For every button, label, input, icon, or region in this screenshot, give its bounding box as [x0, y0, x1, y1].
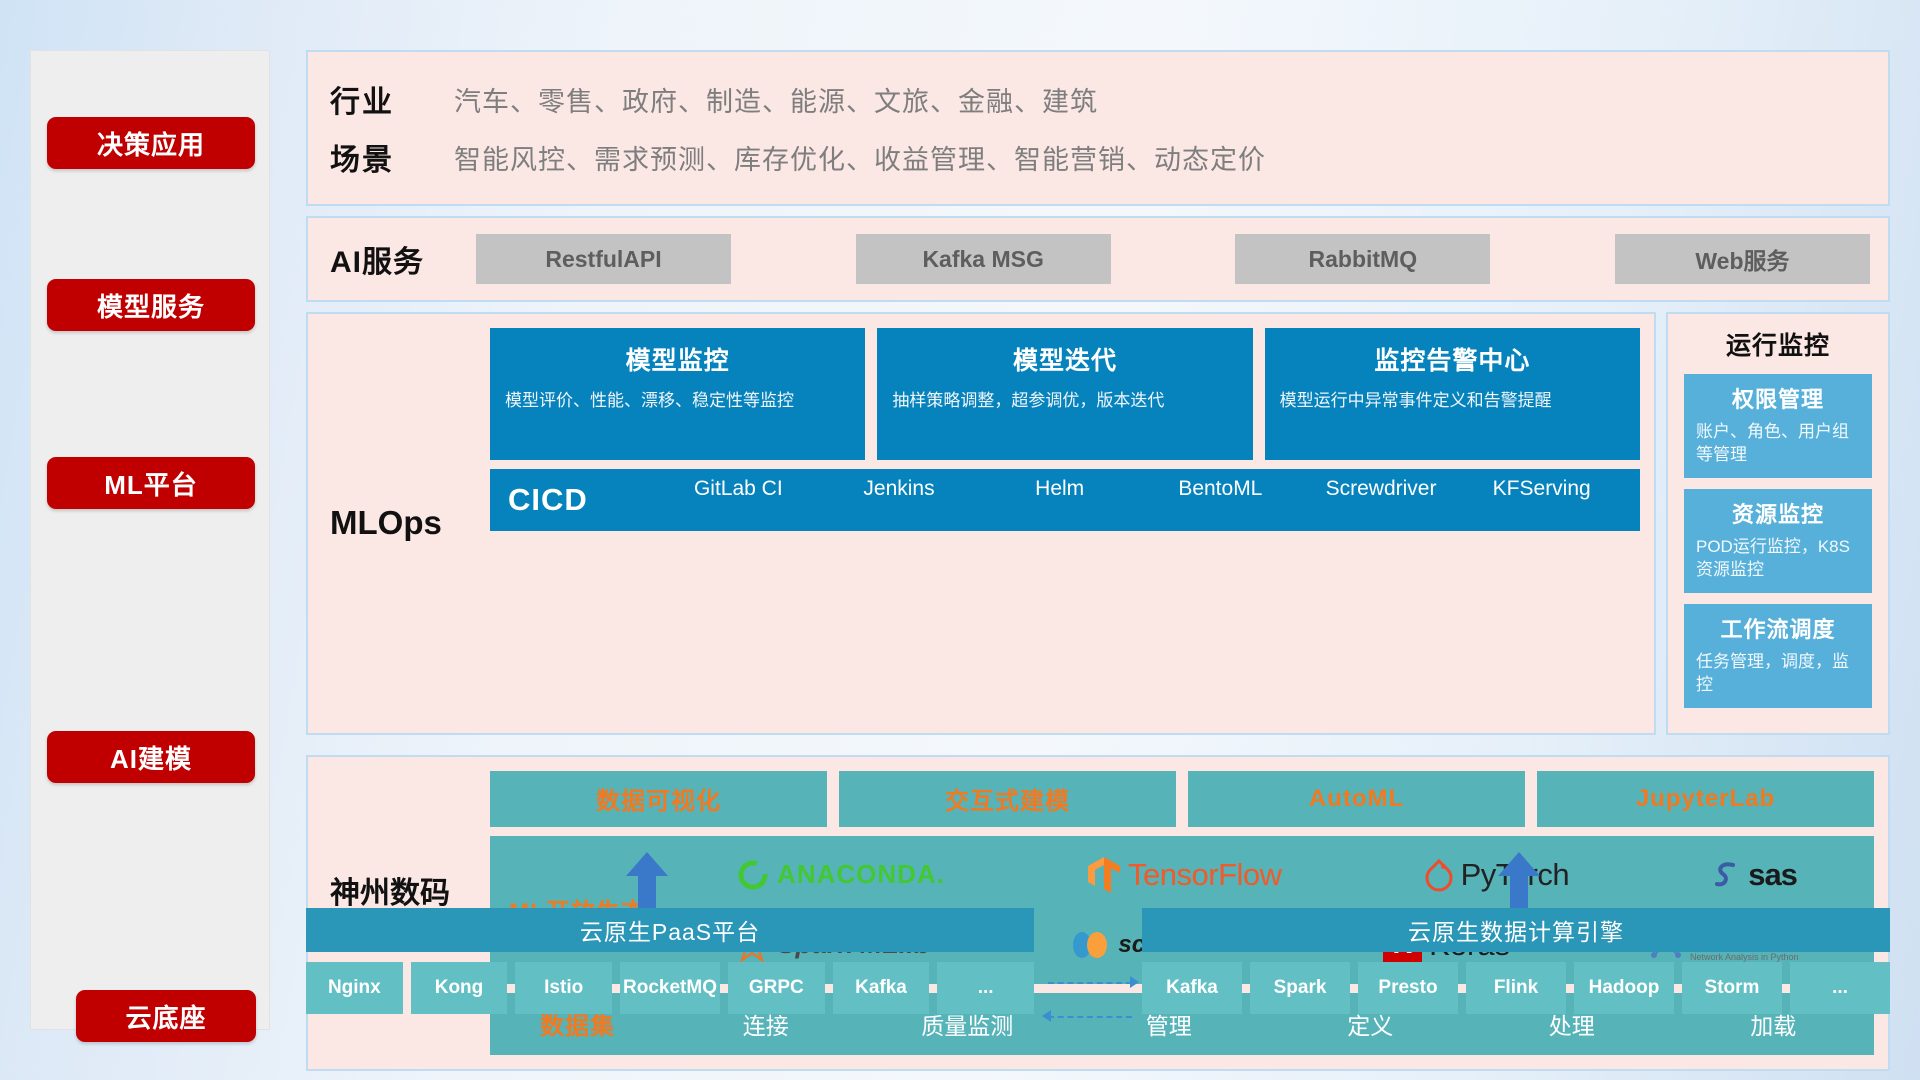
- paas-chip-rocketmq[interactable]: RocketMQ: [620, 962, 720, 1014]
- cicd-title: CICD: [508, 482, 658, 518]
- engine-chip-kafka[interactable]: Kafka: [1142, 962, 1242, 1014]
- paas-chip-kafka[interactable]: Kafka: [833, 962, 930, 1014]
- lab-tab-jupyterlab[interactable]: JupyterLab: [1537, 771, 1874, 827]
- card-title: 权限管理: [1696, 382, 1860, 414]
- sas-icon: [1711, 859, 1741, 891]
- lab-tab-interactive-modeling[interactable]: 交互式建模: [839, 771, 1176, 827]
- data-engine-group: 云原生数据计算引擎 Kafka Spark Presto Flink Hadoo…: [1142, 908, 1890, 1014]
- cicd-item-jenkins[interactable]: Jenkins: [819, 478, 980, 522]
- dashed-connector-right: [1048, 982, 1132, 984]
- ai-service-title: AI服务: [330, 237, 454, 281]
- monitor-card-resource[interactable]: 资源监控 POD运行监控，K8S资源监控: [1684, 489, 1872, 593]
- pytorch-icon: [1424, 858, 1454, 892]
- mlops-panel: MLOps 模型监控 模型评价、性能、漂移、稳定性等监控 模型迭代 抽样策略调整…: [306, 312, 1656, 735]
- cicd-bar: CICD GitLab CI Jenkins Helm BentoML Scre…: [490, 469, 1640, 531]
- card-desc: 模型运行中异常事件定义和告警提醒: [1280, 389, 1625, 414]
- rail-item-ml-platform[interactable]: ML平台: [47, 457, 255, 509]
- card-title: 监控告警中心: [1280, 341, 1625, 377]
- mlops-title: MLOps: [330, 328, 490, 719]
- ml-lab-tab-list: 数据可视化 交互式建模 AutoML JupyterLab: [490, 771, 1874, 827]
- industry-value: 汽车、零售、政府、制造、能源、文旅、金融、建筑: [454, 80, 1098, 119]
- scenario-label: 场景: [330, 135, 454, 179]
- card-desc: 任务管理，调度，监控: [1696, 651, 1860, 697]
- card-title: 工作流调度: [1696, 612, 1860, 644]
- paas-chip-more[interactable]: ...: [937, 962, 1034, 1014]
- engine-chip-hadoop[interactable]: Hadoop: [1574, 962, 1674, 1014]
- monitor-card-permission[interactable]: 权限管理 账户、角色、用户组等管理: [1684, 374, 1872, 478]
- pytorch-logo: PyTorch: [1424, 857, 1569, 893]
- arrow-up-paas: [626, 852, 668, 908]
- lab-tab-data-visualization[interactable]: 数据可视化: [490, 771, 827, 827]
- card-title: 模型迭代: [892, 341, 1237, 377]
- engine-chip-storm[interactable]: Storm: [1682, 962, 1782, 1014]
- tensorflow-label: TensorFlow: [1128, 857, 1282, 893]
- card-desc: 抽样策略调整，超参调优，版本迭代: [892, 389, 1237, 414]
- paas-chip-list: Nginx Kong Istio RocketMQ GRPC Kafka ...: [306, 962, 1034, 1014]
- rail-item-cloud-base[interactable]: 云底座: [76, 990, 256, 1042]
- card-desc: POD运行监控，K8S资源监控: [1696, 536, 1860, 582]
- stage-rail: 决策应用 模型服务 ML平台 AI建模: [30, 50, 270, 1030]
- data-engine-title: 云原生数据计算引擎: [1142, 908, 1890, 952]
- anaconda-icon: [736, 858, 770, 892]
- ai-chip-restfulapi[interactable]: RestfulAPI: [476, 234, 731, 284]
- ai-chip-web-service[interactable]: Web服务: [1615, 234, 1870, 284]
- sas-label: sas: [1748, 857, 1797, 893]
- arrow-up-data-engine: [1498, 852, 1540, 908]
- cicd-item-gitlab-ci[interactable]: GitLab CI: [658, 478, 819, 522]
- rail-label-text: 决策应用: [97, 125, 205, 162]
- ai-chip-kafka-msg[interactable]: Kafka MSG: [856, 234, 1111, 284]
- band-ml-platform: MLOps 模型监控 模型评价、性能、漂移、稳定性等监控 模型迭代 抽样策略调整…: [306, 312, 1890, 745]
- band-business: 行业 汽车、零售、政府、制造、能源、文旅、金融、建筑 场景 智能风控、需求预测、…: [306, 50, 1890, 206]
- mlops-card-model-iteration[interactable]: 模型迭代 抽样策略调整，超参调优，版本迭代: [877, 328, 1252, 460]
- sas-logo: sas: [1711, 857, 1797, 893]
- card-title: 资源监控: [1696, 497, 1860, 529]
- paas-chip-grpc[interactable]: GRPC: [728, 962, 825, 1014]
- rail-item-decision-app[interactable]: 决策应用: [47, 117, 255, 169]
- rail-label-text: ML平台: [104, 465, 198, 502]
- engine-chip-presto[interactable]: Presto: [1358, 962, 1458, 1014]
- cicd-item-helm[interactable]: Helm: [979, 478, 1140, 522]
- row-scenario: 场景 智能风控、需求预测、库存优化、收益管理、智能营销、动态定价: [330, 128, 1878, 186]
- card-title: 模型监控: [505, 341, 850, 377]
- anaconda-logo: ANACONDA.: [736, 858, 945, 892]
- mlops-content: 模型监控 模型评价、性能、漂移、稳定性等监控 模型迭代 抽样策略调整，超参调优，…: [490, 328, 1640, 719]
- mlops-card-list: 模型监控 模型评价、性能、漂移、稳定性等监控 模型迭代 抽样策略调整，超参调优，…: [490, 328, 1640, 460]
- dashed-connector-left: [1048, 1016, 1132, 1018]
- cicd-item-kfserving[interactable]: KFServing: [1461, 478, 1622, 522]
- tensorflow-logo: TensorFlow: [1087, 856, 1282, 894]
- row-industry: 行业 汽车、零售、政府、制造、能源、文旅、金融、建筑: [330, 70, 1878, 128]
- rail-item-ai-modeling[interactable]: AI建模: [47, 731, 255, 783]
- band-ai-service: AI服务 RestfulAPI Kafka MSG RabbitMQ Web服务: [306, 216, 1890, 302]
- paas-chip-kong[interactable]: Kong: [411, 962, 508, 1014]
- cicd-item-list: GitLab CI Jenkins Helm BentoML Screwdriv…: [658, 478, 1622, 522]
- tensorflow-icon: [1087, 856, 1121, 894]
- scenario-value: 智能风控、需求预测、库存优化、收益管理、智能营销、动态定价: [454, 138, 1266, 177]
- data-engine-chip-list: Kafka Spark Presto Flink Hadoop Storm ..…: [1142, 962, 1890, 1014]
- paas-chip-istio[interactable]: Istio: [515, 962, 612, 1014]
- ai-service-chip-list: RestfulAPI Kafka MSG RabbitMQ Web服务: [454, 234, 1870, 284]
- paas-chip-nginx[interactable]: Nginx: [306, 962, 403, 1014]
- rail-label-text: AI建模: [110, 739, 192, 776]
- mlops-card-model-monitor[interactable]: 模型监控 模型评价、性能、漂移、稳定性等监控: [490, 328, 865, 460]
- rail-item-model-service[interactable]: 模型服务: [47, 279, 255, 331]
- rail-label-text: 云底座: [125, 998, 206, 1035]
- dashed-arrow-right-icon: [1130, 976, 1139, 988]
- anaconda-label: ANACONDA.: [777, 859, 945, 890]
- engine-chip-more[interactable]: ...: [1790, 962, 1890, 1014]
- dashed-arrow-left-icon: [1042, 1010, 1051, 1022]
- lab-tab-automl[interactable]: AutoML: [1188, 771, 1525, 827]
- monitor-card-workflow[interactable]: 工作流调度 任务管理，调度，监控: [1684, 604, 1872, 708]
- engine-chip-spark[interactable]: Spark: [1250, 962, 1350, 1014]
- engine-chip-flink[interactable]: Flink: [1466, 962, 1566, 1014]
- cicd-item-screwdriver[interactable]: Screwdriver: [1301, 478, 1462, 522]
- industry-label: 行业: [330, 77, 454, 121]
- cloud-foundation: 云原生PaaS平台 Nginx Kong Istio RocketMQ GRPC…: [306, 890, 1890, 1040]
- card-desc: 账户、角色、用户组等管理: [1696, 421, 1860, 467]
- mlops-card-alert-center[interactable]: 监控告警中心 模型运行中异常事件定义和告警提醒: [1265, 328, 1640, 460]
- runtime-monitor-panel: 运行监控 权限管理 账户、角色、用户组等管理 资源监控 POD运行监控，K8S资…: [1666, 312, 1890, 735]
- rail-label-text: 模型服务: [97, 287, 205, 324]
- cicd-item-bentoml[interactable]: BentoML: [1140, 478, 1301, 522]
- paas-platform-title: 云原生PaaS平台: [306, 908, 1034, 952]
- ai-chip-rabbitmq[interactable]: RabbitMQ: [1235, 234, 1490, 284]
- card-desc: 模型评价、性能、漂移、稳定性等监控: [505, 389, 850, 414]
- runtime-monitor-title: 运行监控: [1684, 326, 1872, 362]
- paas-platform-group: 云原生PaaS平台 Nginx Kong Istio RocketMQ GRPC…: [306, 908, 1034, 1014]
